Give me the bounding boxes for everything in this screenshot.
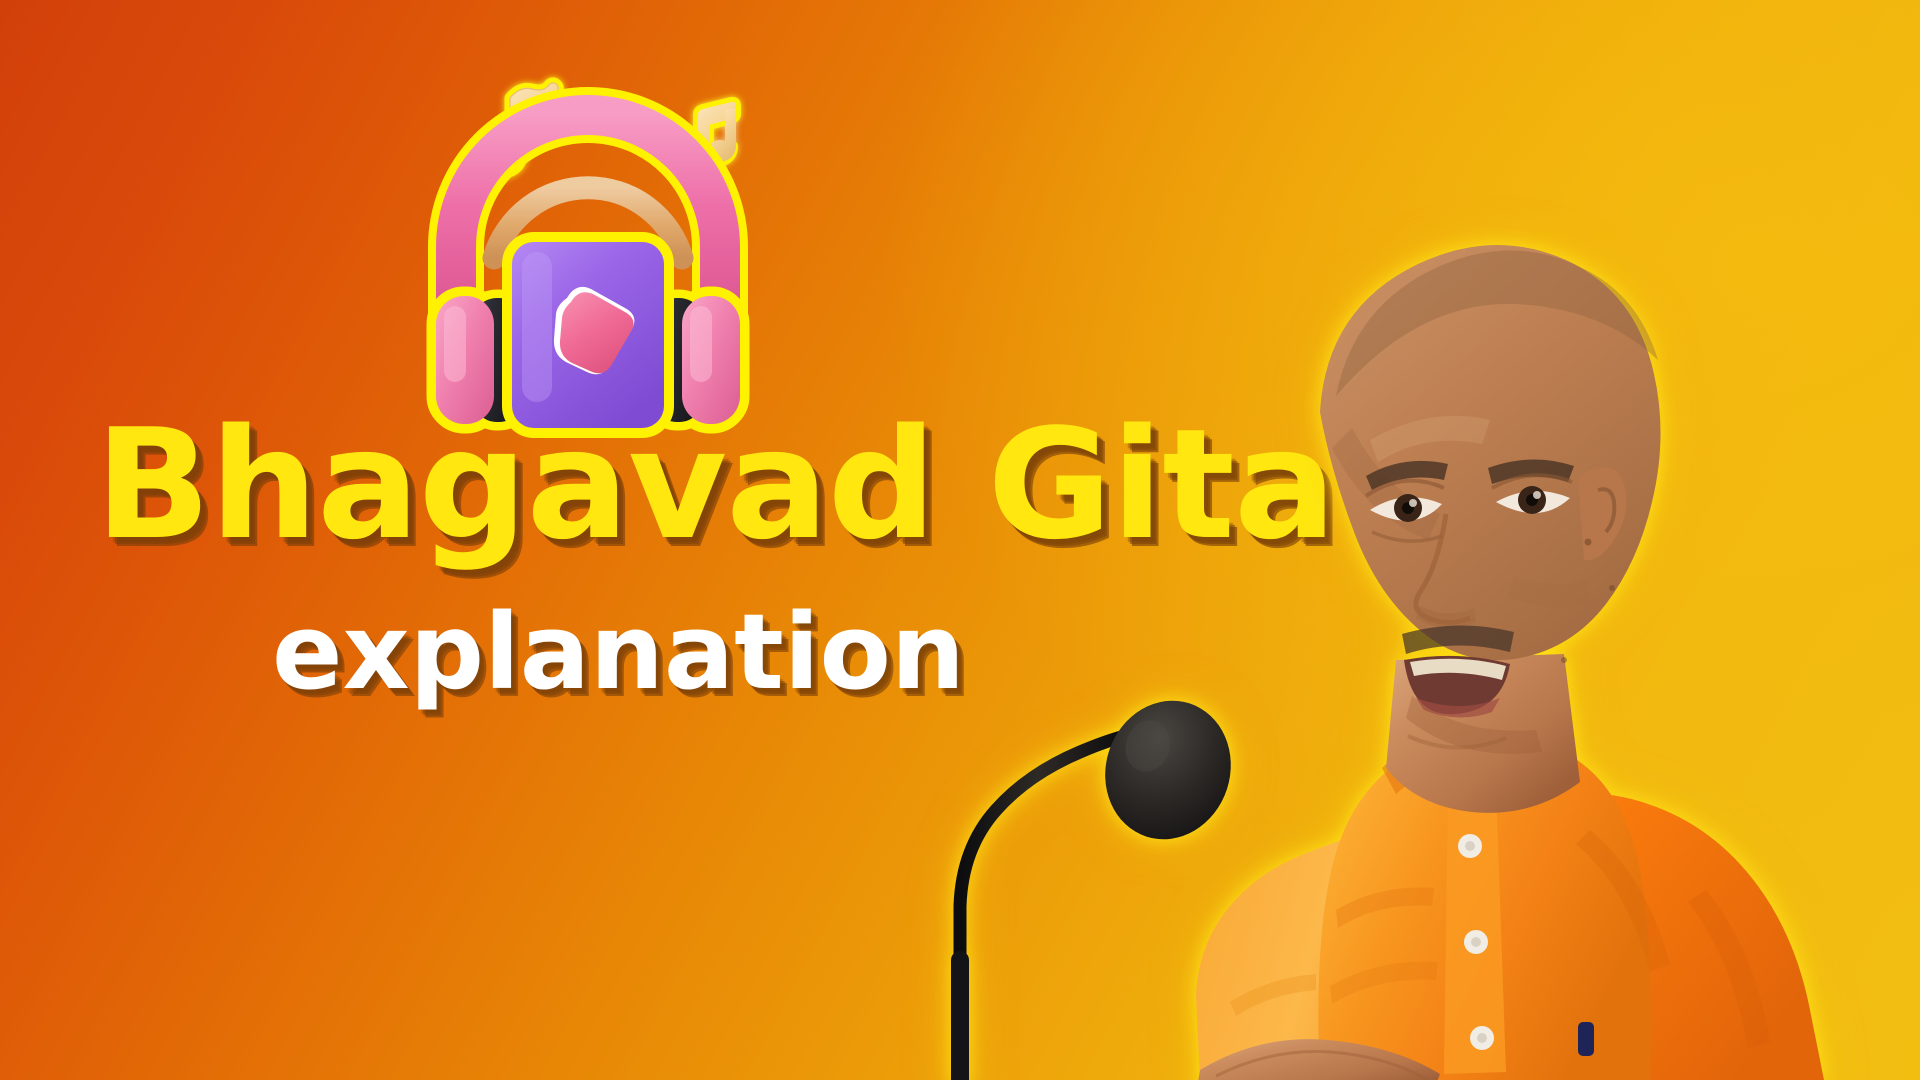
microphone-head: [1087, 684, 1248, 855]
robe-clip: [1578, 1022, 1594, 1056]
thumbnail-canvas: Bhagavad Gita explanation: [0, 0, 1920, 1080]
presenter-cutout: [900, 190, 1920, 1080]
audiobook-headphones-icon: [398, 62, 778, 402]
